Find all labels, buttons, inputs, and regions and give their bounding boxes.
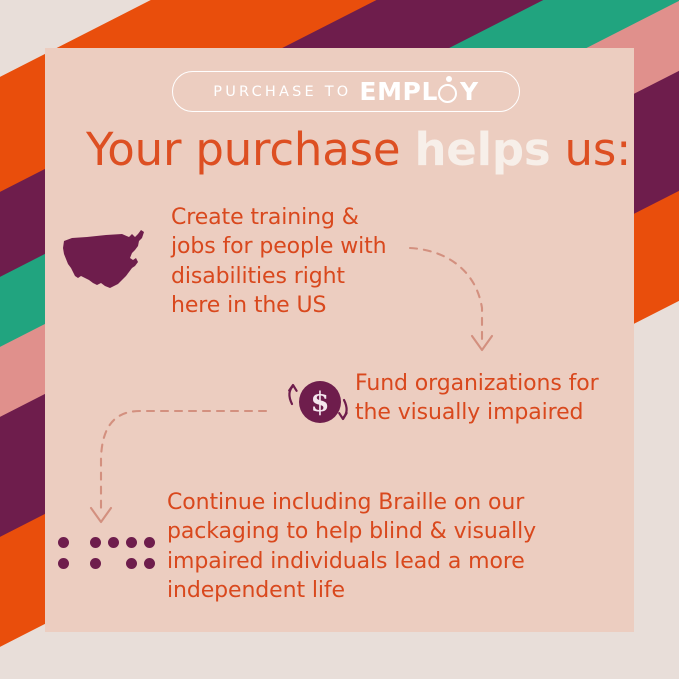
badge-employ-right: Y: [460, 79, 479, 104]
braille-dot: [126, 537, 137, 548]
braille-dot: [126, 558, 137, 569]
braille-dot: [58, 558, 69, 569]
badge-content: PURCHASE TO EMPL Y: [173, 72, 519, 111]
headline-part-1: Your purchase: [86, 123, 414, 176]
headline-emphasis: helps: [414, 123, 550, 176]
braille-dot: [58, 537, 69, 548]
headline-part-2: us:: [550, 123, 631, 176]
benefit-text-braille-packaging: Continue including Braille on our packag…: [167, 488, 567, 606]
person-icon-body: [438, 84, 457, 103]
purchase-to-employ-badge: PURCHASE TO EMPL Y: [172, 71, 520, 112]
braille-cell-5: [144, 537, 161, 573]
braille-cell-2: [90, 537, 107, 573]
coin-circle: $: [299, 381, 341, 423]
braille-dot: [90, 537, 101, 548]
dollar-coin-icon: $: [281, 374, 355, 430]
infographic-canvas: PURCHASE TO EMPL Y Your purchase helps u…: [0, 0, 679, 679]
braille-dots-icon: [58, 537, 150, 573]
dollar-sign: $: [311, 389, 330, 416]
badge-employ-word: EMPL Y: [359, 79, 478, 104]
braille-cell-4: [126, 537, 143, 573]
person-icon-head: [446, 76, 452, 82]
braille-cell-1: [58, 537, 75, 573]
person-icon: [438, 79, 460, 104]
badge-prefix-text: PURCHASE TO: [213, 84, 351, 100]
braille-cell-3: [108, 537, 125, 573]
dashed-curved-arrow-down-icon: [408, 236, 518, 366]
braille-dot: [144, 537, 155, 548]
badge-employ-left: EMPL: [359, 79, 438, 104]
braille-dot: [144, 558, 155, 569]
page-title: Your purchase helps us:: [86, 126, 606, 175]
benefit-text-training-jobs: Create training & jobs for people with d…: [171, 203, 421, 321]
us-map-icon: [60, 228, 160, 290]
braille-dot: [90, 558, 101, 569]
braille-dot: [108, 537, 119, 548]
benefit-text-fund-organizations: Fund organizations for the visually impa…: [355, 369, 625, 428]
